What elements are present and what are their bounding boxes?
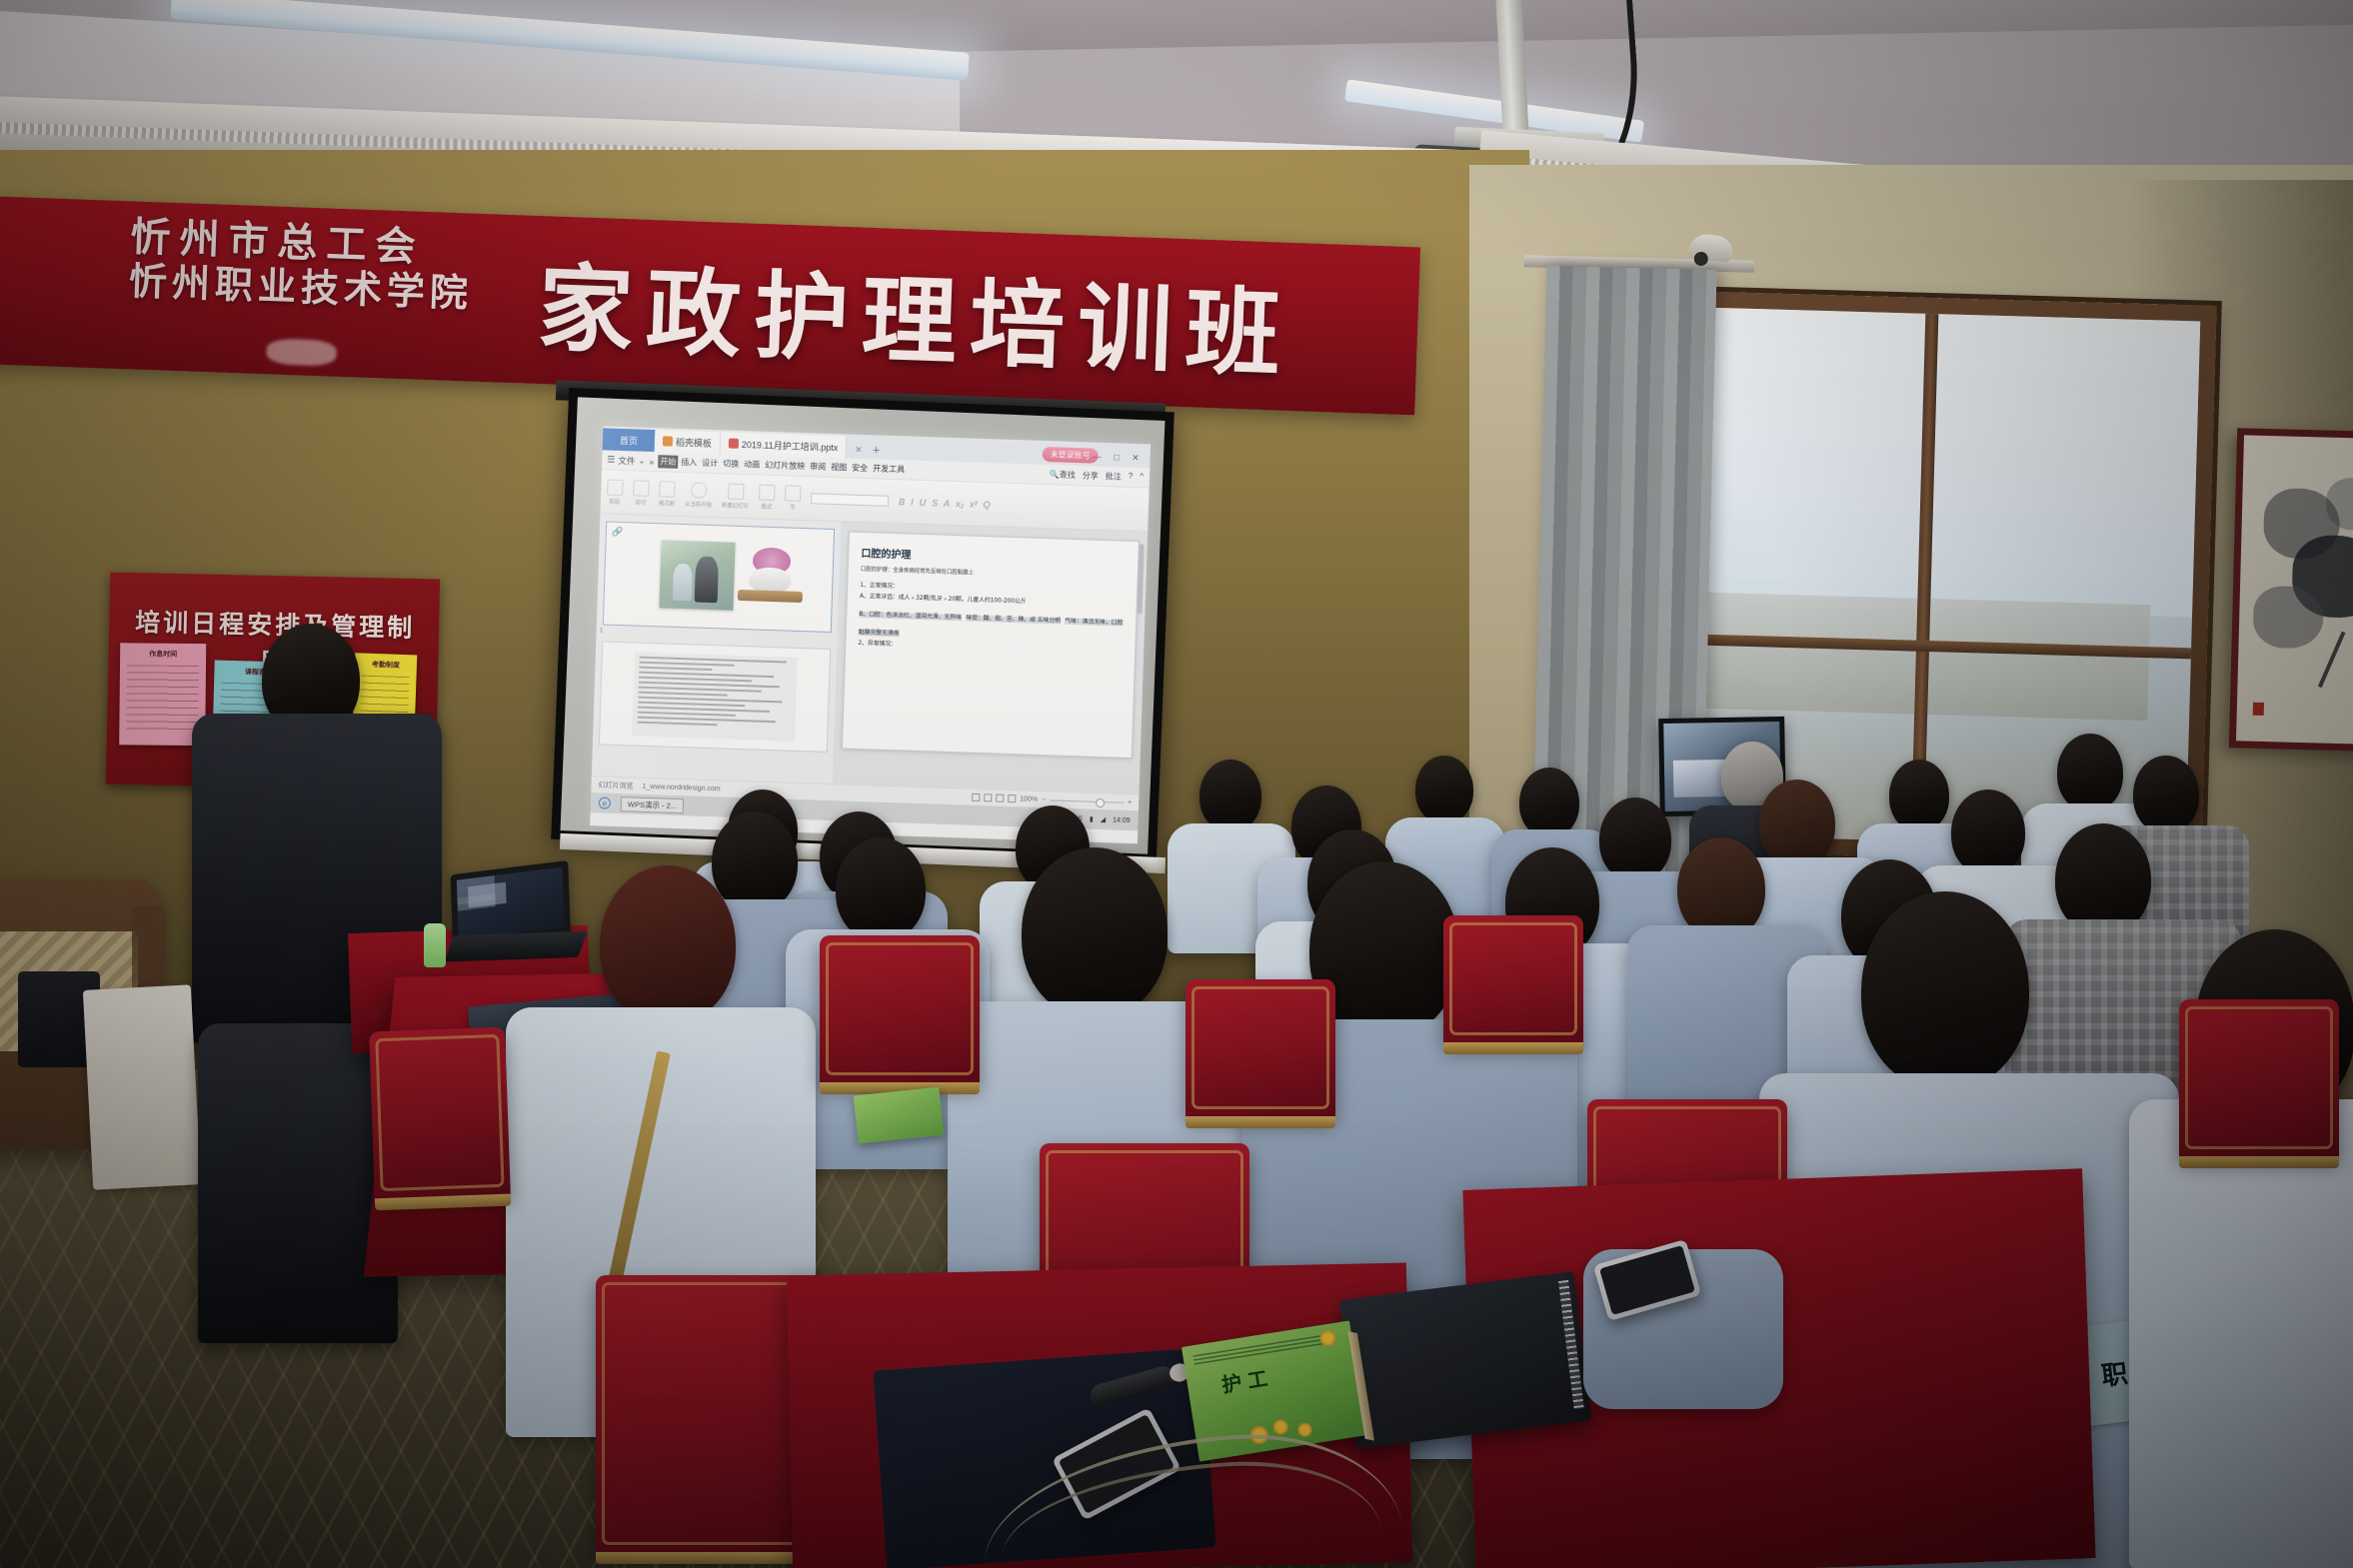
slide-thumbnail-pane[interactable]: 🔗 1 xyxy=(592,514,842,784)
apron-left xyxy=(83,984,201,1189)
slide-thumbnail-1[interactable]: 🔗 xyxy=(603,521,835,633)
instructor-trousers xyxy=(198,1023,398,1343)
ribbon-cut[interactable]: 剪切 xyxy=(633,480,650,507)
play-icon xyxy=(691,482,708,499)
new-slide-icon xyxy=(728,483,745,500)
share-button[interactable]: 分享 xyxy=(1083,470,1099,482)
ribbon-format-painter[interactable]: 格式刷 xyxy=(659,481,676,508)
chair-7 xyxy=(2179,999,2339,1159)
attendee-head-red xyxy=(600,865,736,1023)
network-icon[interactable]: ◢ xyxy=(1101,815,1107,823)
edge-icon[interactable]: e xyxy=(599,796,611,808)
slide-pane-scrollbar[interactable] xyxy=(1137,544,1144,614)
taskbar-wps-button[interactable]: WPS演示 - 2... xyxy=(621,796,685,813)
ribbon-tab-design[interactable]: 设计 xyxy=(700,457,720,471)
laptop-keyboard[interactable] xyxy=(444,931,588,962)
flower-photo xyxy=(736,547,806,604)
font-name-input[interactable] xyxy=(811,493,889,507)
slideshow-icon[interactable] xyxy=(1008,794,1016,802)
text-highlight-button[interactable]: A xyxy=(944,498,950,508)
font-style-buttons: B I U S A x₂ x² Q xyxy=(899,497,991,510)
status-source-label: 1_www.nordridesign.com xyxy=(642,783,720,792)
ribbon-tab-insert[interactable]: 插入 xyxy=(679,456,699,470)
login-button[interactable]: 未登录账号 xyxy=(1042,447,1098,464)
bold-button[interactable]: B xyxy=(899,497,905,507)
ribbon-play[interactable]: 从当前开始 xyxy=(685,482,713,509)
help-button[interactable]: ? xyxy=(1129,472,1134,483)
classroom-photo: 忻州市总工会 忻州职业技术学院 家政护理培训班 培训日程安排及管理制度 作息时间… xyxy=(0,0,2353,1568)
chevron-down-icon: ⌄ xyxy=(638,456,645,467)
superscript-button[interactable]: x² xyxy=(970,499,978,509)
hamburger-icon: ☰ xyxy=(607,454,615,465)
layout-icon xyxy=(759,484,776,501)
slide-bullet-4: 味觉：酸、甜、苦、辣、咸 五味分明 xyxy=(966,615,1061,624)
tab-template[interactable]: 稻壳模板 xyxy=(655,430,722,454)
ribbon-layout[interactable]: 版式 xyxy=(759,484,776,511)
pptx-file-icon xyxy=(729,439,739,449)
normal-view-icon[interactable] xyxy=(972,793,980,801)
tab-document[interactable]: 2019.11月护工培训.pptx xyxy=(721,432,848,458)
tab-home[interactable]: 首页 xyxy=(603,428,656,452)
elderly-photo xyxy=(659,541,736,611)
new-tab-button[interactable]: + xyxy=(872,442,880,459)
slide-edit-pane[interactable]: 口腔的护理 口腔的护理：全身疾病经常先反映在口腔黏膜上 1、正常情况： A、正常… xyxy=(833,522,1148,793)
format-painter-icon xyxy=(659,481,676,498)
collapse-ribbon-icon[interactable]: ^ xyxy=(1140,472,1144,483)
chair-6 xyxy=(1185,979,1335,1119)
banner-organizers: 忻州市总工会 忻州职业技术学院 xyxy=(128,215,475,315)
template-icon xyxy=(663,436,673,446)
clear-format-button[interactable]: Q xyxy=(983,499,990,509)
scissors-icon xyxy=(633,480,650,497)
book-title: 护工 xyxy=(1219,1361,1275,1398)
ribbon-section[interactable]: 节 xyxy=(785,485,802,512)
status-view-label: 幻灯片浏览 xyxy=(598,780,633,790)
paste-icon xyxy=(607,479,624,496)
ribbon-tab-transition[interactable]: 切换 xyxy=(721,457,741,471)
ribbon-tab-security[interactable]: 安全 xyxy=(850,462,870,476)
window-controls[interactable]: — □ ✕ xyxy=(1092,452,1144,465)
banner-title: 家政护理培训班 xyxy=(536,232,1295,396)
thumbnail-number-1: 1 xyxy=(600,628,604,634)
chair-4 xyxy=(820,935,980,1085)
search-button[interactable]: 🔍查找 xyxy=(1050,469,1076,481)
water-bottle xyxy=(424,923,446,967)
wps-presentation-window[interactable]: 首页 稻壳模板 2019.11月护工培训.pptx ✕ + 未登录账号 — □ … xyxy=(590,426,1151,843)
slide-title: 口腔的护理 xyxy=(861,545,1126,569)
current-slide[interactable]: 口腔的护理 口腔的护理：全身疾病经常先反映在口腔黏膜上 1、正常情况： A、正常… xyxy=(842,532,1140,760)
wall-painting xyxy=(2229,428,2353,752)
comment-button[interactable]: 批注 xyxy=(1106,471,1122,483)
italic-button[interactable]: I xyxy=(911,497,914,507)
strikethrough-button[interactable]: S xyxy=(932,498,938,508)
zoom-level: 100% xyxy=(1020,795,1038,803)
sorter-view-icon[interactable] xyxy=(984,793,992,801)
file-menu-button[interactable]: ☰ 文件 ⌄ xyxy=(607,454,646,467)
projection-screen: 首页 稻壳模板 2019.11月护工培训.pptx ✕ + 未登录账号 — □ … xyxy=(551,388,1175,863)
thumbnail-text-block xyxy=(632,653,798,742)
ribbon-tab-start[interactable]: 开始 xyxy=(658,455,678,469)
zoom-in-button[interactable]: + xyxy=(1128,798,1132,805)
ribbon-tab-slideshow[interactable]: 幻灯片放映 xyxy=(763,459,807,473)
ribbon-tab-review[interactable]: 审阅 xyxy=(808,460,828,474)
slide-thumbnail-2[interactable] xyxy=(599,641,831,753)
ribbon-tab-animation[interactable]: 动画 xyxy=(742,458,762,472)
chair-8 xyxy=(1443,915,1583,1045)
laptop[interactable] xyxy=(450,865,583,961)
link-icon: 🔗 xyxy=(612,527,624,538)
section-icon xyxy=(785,485,802,502)
slide-bullet-3: B、口腔：色泽淡红、湿润光滑、无异味 xyxy=(859,612,962,621)
wps-body: 🔗 1 xyxy=(592,514,1148,793)
battery-icon[interactable]: ▮ xyxy=(1090,815,1094,823)
taskbar-clock: 14:09 xyxy=(1113,816,1131,824)
tab-close-icon[interactable]: ✕ xyxy=(855,445,863,459)
green-booklet xyxy=(854,1087,945,1144)
ribbon-tab-devtools[interactable]: 开发工具 xyxy=(871,462,907,476)
slide-bullet-6: 2、异常情况： xyxy=(858,639,1123,659)
ribbon-new-slide[interactable]: 新建幻灯片 xyxy=(722,483,750,510)
underline-button[interactable]: U xyxy=(920,497,927,507)
chair-2 xyxy=(369,1027,511,1202)
subscript-button[interactable]: x₂ xyxy=(956,499,964,509)
painting-seal xyxy=(2253,703,2264,716)
zoom-out-button[interactable]: − xyxy=(1042,796,1046,803)
zoom-slider[interactable] xyxy=(1050,799,1124,802)
dark-notebook xyxy=(1339,1271,1592,1449)
ribbon-paste[interactable]: 粘贴 xyxy=(607,479,624,506)
undo-redo-icon[interactable]: » xyxy=(649,456,654,466)
reading-view-icon[interactable] xyxy=(996,794,1004,802)
ribbon-tab-view[interactable]: 视图 xyxy=(829,461,849,475)
